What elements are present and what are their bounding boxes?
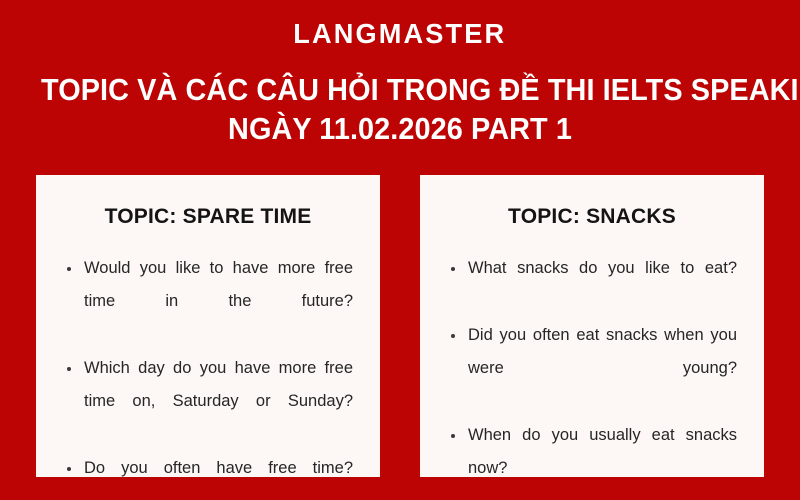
question-list: Would you like to have more free time in… xyxy=(63,252,353,477)
page-title-line-1: TOPIC VÀ CÁC CÂU HỎI TRONG ĐỀ THI IELTS … xyxy=(41,70,759,109)
question-text: Do you often have free time? xyxy=(84,459,353,477)
question-list: What snacks do you like to eat? Did you … xyxy=(447,252,737,477)
topic-card-container: TOPIC: SPARE TIME Would you like to have… xyxy=(36,175,764,477)
question-text: Which day do you have more free time on,… xyxy=(84,359,353,410)
page-title: TOPIC VÀ CÁC CÂU HỎI TRONG ĐỀ THI IELTS … xyxy=(14,70,786,148)
question-text: When do you usually eat snacks now? xyxy=(468,426,737,477)
list-item: When do you usually eat snacks now? xyxy=(447,419,737,477)
poster: LANGMASTER TOPIC VÀ CÁC CÂU HỎI TRONG ĐỀ… xyxy=(0,0,800,500)
list-item: Do you often have free time? xyxy=(63,452,353,477)
list-item: Which day do you have more free time on,… xyxy=(63,352,353,451)
question-text: Did you often eat snacks when you were y… xyxy=(468,326,737,377)
page-title-line-2: NGÀY 11.02.2026 PART 1 xyxy=(41,109,759,148)
langmaster-logo: LANGMASTER xyxy=(294,17,507,51)
topic-card-spare-time: TOPIC: SPARE TIME Would you like to have… xyxy=(36,175,380,477)
question-text: Would you like to have more free time in… xyxy=(84,259,353,310)
question-text: What snacks do you like to eat? xyxy=(468,259,737,277)
list-item: Did you often eat snacks when you were y… xyxy=(447,319,737,418)
list-item: Would you like to have more free time in… xyxy=(63,252,353,351)
topic-card-heading: TOPIC: SNACKS xyxy=(447,175,737,230)
topic-card-snacks: TOPIC: SNACKS What snacks do you like to… xyxy=(420,175,764,477)
brand-header: LANGMASTER xyxy=(0,17,800,51)
list-item: What snacks do you like to eat? xyxy=(447,252,737,318)
topic-card-heading: TOPIC: SPARE TIME xyxy=(63,175,353,230)
